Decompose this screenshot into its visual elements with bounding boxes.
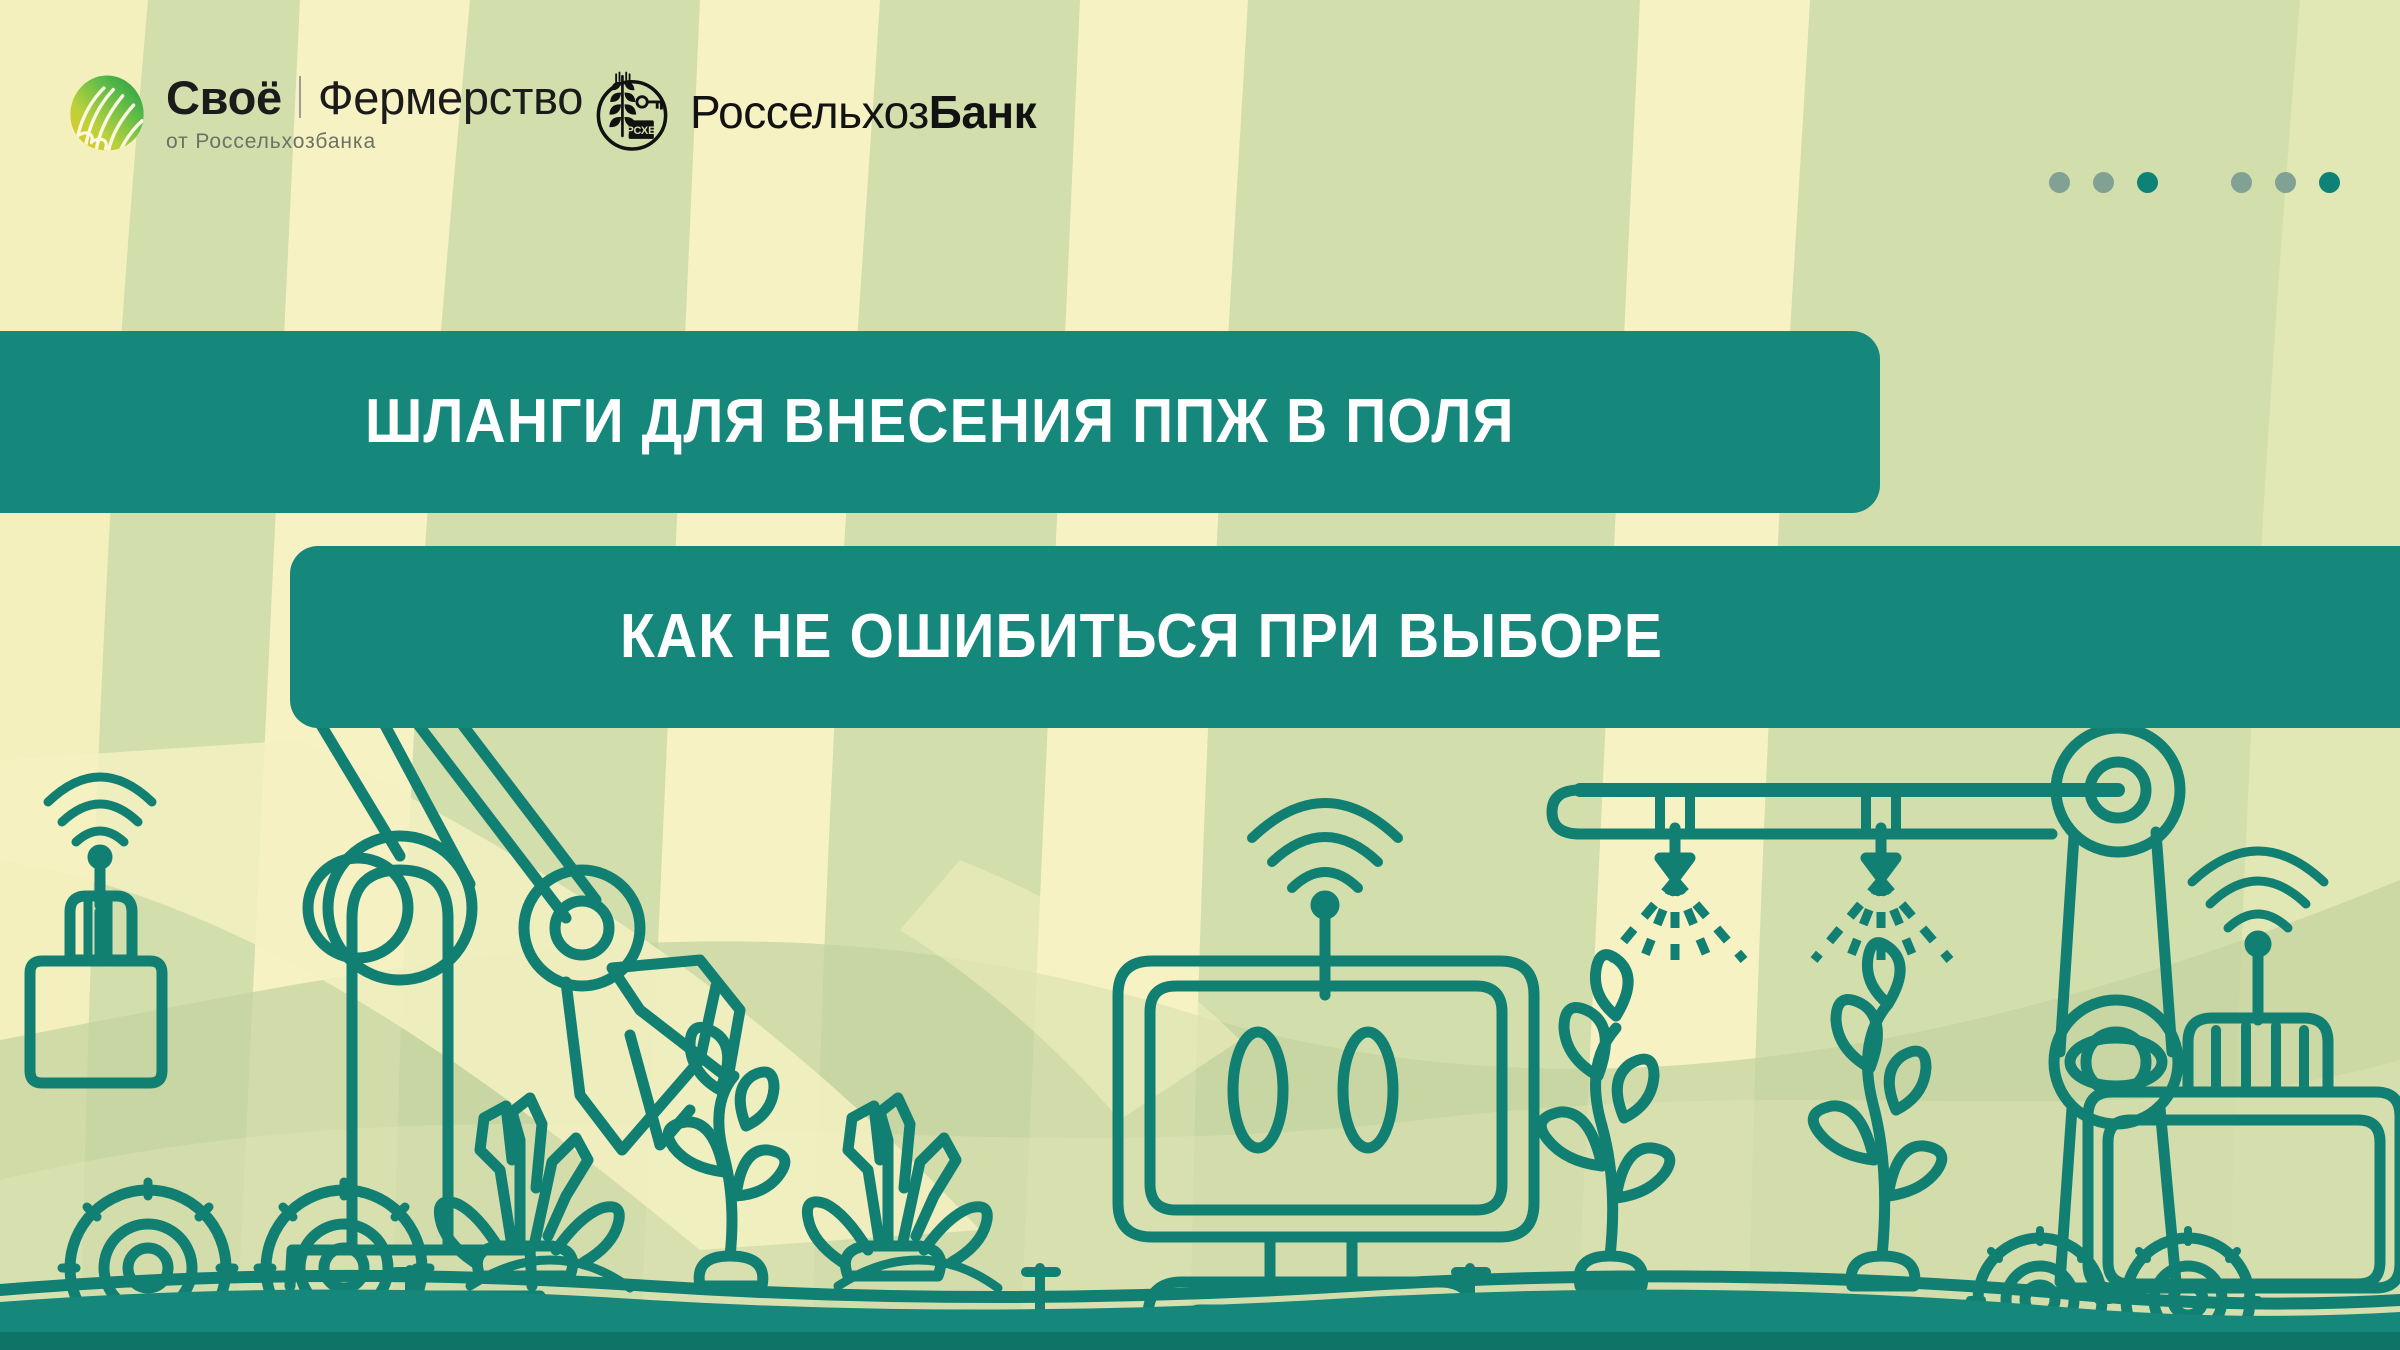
- svoe-word-1: Своё: [166, 74, 282, 121]
- svoe-wordmark: Своё Фермерство от Россельхозбанка: [166, 72, 583, 154]
- progress-dot-5[interactable]: [2275, 172, 2296, 193]
- svoe-leaf-mark-icon: [68, 74, 146, 152]
- logo-rosselkhozbank[interactable]: РСХБ РоссельхозБанк: [590, 70, 1036, 154]
- headline-bar-secondary: КАК НЕ ОШИБИТЬСЯ ПРИ ВЫБОРЕ: [290, 546, 2400, 728]
- svoe-separator: [299, 76, 301, 118]
- headline-line-1: ШЛАНГИ ДЛЯ ВНЕСЕНИЯ ППЖ В ПОЛЯ: [365, 391, 1515, 453]
- progress-dot-6[interactable]: [2319, 172, 2340, 193]
- rshb-wordmark: РоссельхозБанк: [690, 89, 1036, 135]
- svoe-subtitle: от Россельхозбанка: [166, 130, 583, 154]
- progress-dot-3[interactable]: [2137, 172, 2158, 193]
- svoe-word-2: Фермерство: [318, 74, 583, 121]
- rshb-wheat-key-seal-icon: РСХБ: [590, 70, 674, 154]
- headline-bar-primary: ШЛАНГИ ДЛЯ ВНЕСЕНИЯ ППЖ В ПОЛЯ: [0, 331, 1880, 513]
- rshb-name-bold: Банк: [929, 86, 1036, 138]
- progress-dot-4[interactable]: [2231, 172, 2252, 193]
- headline-line-2: КАК НЕ ОШИБИТЬСЯ ПРИ ВЫБОРЕ: [620, 606, 1663, 668]
- logo-svoe-fermerstvo[interactable]: Своё Фермерство от Россельхозбанка: [68, 72, 583, 154]
- progress-dot-2[interactable]: [2093, 172, 2114, 193]
- poster-canvas: Своё Фермерство от Россельхозбанка: [0, 0, 2400, 1350]
- dots-group-separator: [2181, 182, 2208, 183]
- progress-dots[interactable]: [2049, 172, 2340, 193]
- rshb-name-light: Россельхоз: [690, 86, 929, 138]
- svg-text:РСХБ: РСХБ: [626, 125, 656, 137]
- progress-dot-1[interactable]: [2049, 172, 2070, 193]
